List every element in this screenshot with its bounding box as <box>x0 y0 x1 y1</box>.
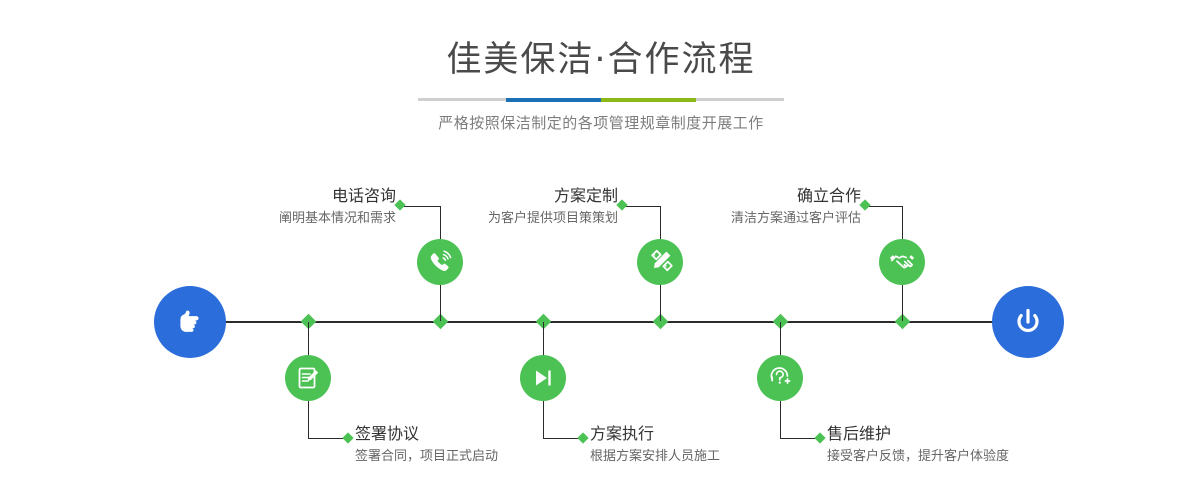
label-marker <box>342 432 353 443</box>
step-label-2: 签署协议 签署合同，项目正式启动 <box>355 424 595 466</box>
step-label-3: 方案定制 为客户提供项目策策划 <box>418 186 618 228</box>
step-desc: 根据方案安排人员施工 <box>590 444 830 466</box>
step-title: 方案执行 <box>590 424 830 444</box>
step-desc: 为客户提供项目策策划 <box>418 206 618 228</box>
step-desc: 清洁方案通过客户评估 <box>661 206 861 228</box>
handshake-icon <box>888 248 916 276</box>
phone-call-icon <box>426 248 454 276</box>
pointing-hand-icon <box>170 302 210 342</box>
flowchart-canvas: 佳美保洁·合作流程 严格按照保洁制定的各项管理规章制度开展工作 <box>0 0 1202 502</box>
step-desc: 阐明基本情况和需求 <box>196 206 396 228</box>
step-title: 电话咨询 <box>196 186 396 206</box>
customer-service-add-icon <box>767 365 793 391</box>
step-icon-4[interactable] <box>520 355 566 401</box>
timeline-end-node[interactable] <box>992 286 1064 358</box>
step-title: 确立合作 <box>661 186 861 206</box>
pencil-ruler-icon <box>646 248 674 276</box>
step-icon-5[interactable] <box>879 239 925 285</box>
step-icon-2[interactable] <box>285 355 331 401</box>
step-icon-6[interactable] <box>757 355 803 401</box>
step-desc: 签署合同，项目正式启动 <box>355 444 595 466</box>
step-label-1: 电话咨询 阐明基本情况和需求 <box>196 186 396 228</box>
step-label-4: 方案执行 根据方案安排人员施工 <box>590 424 830 466</box>
step-icon-3[interactable] <box>637 239 683 285</box>
timeline-start-node[interactable] <box>154 286 226 358</box>
label-marker <box>394 199 405 210</box>
label-marker <box>859 199 870 210</box>
step-label-6: 售后维护 接受客户反馈，提升客户体验度 <box>827 424 1087 466</box>
connector-horizontal <box>865 206 903 207</box>
play-next-icon <box>530 365 556 391</box>
step-icon-1[interactable] <box>417 239 463 285</box>
document-edit-icon <box>295 365 321 391</box>
step-title: 签署协议 <box>355 424 595 444</box>
step-label-5: 确立合作 清洁方案通过客户评估 <box>661 186 861 228</box>
connector-horizontal <box>622 206 661 207</box>
timeline: 电话咨询 阐明基本情况和需求 签署协议 签署合同，项目正式启动 <box>0 0 1202 502</box>
step-title: 方案定制 <box>418 186 618 206</box>
label-marker <box>616 199 627 210</box>
step-title: 售后维护 <box>827 424 1087 444</box>
step-desc: 接受客户反馈，提升客户体验度 <box>827 444 1087 466</box>
power-icon <box>1008 302 1048 342</box>
